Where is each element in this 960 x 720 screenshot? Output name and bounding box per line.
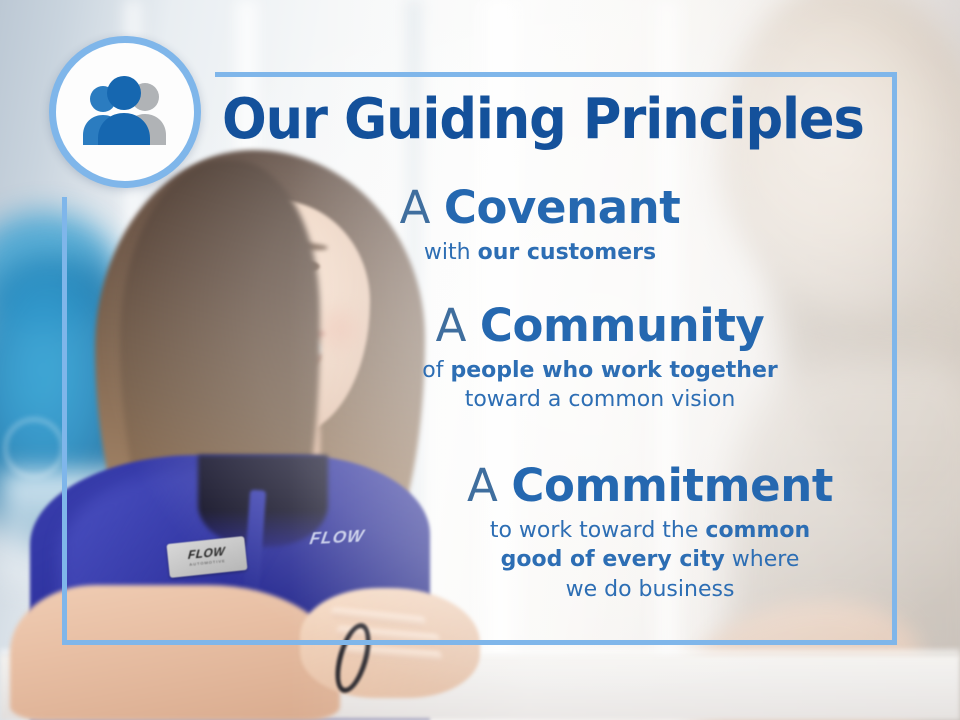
subtitle-segment: we do business	[566, 577, 735, 602]
principle-covenant: A Covenant with our customers	[330, 184, 750, 267]
principle-article: A	[436, 299, 466, 352]
page-title: Our Guiding Principles	[222, 92, 864, 148]
principle-subtitle: to work toward the common good of every …	[415, 516, 885, 604]
subtitle-line: good of every city where	[415, 545, 885, 574]
principle-keyword: Commitment	[511, 459, 833, 512]
subtitle-segment-bold: people who work together	[450, 358, 777, 383]
subtitle-segment-bold: good of every city	[501, 547, 725, 572]
people-group-icon-badge	[49, 36, 201, 188]
principle-headline: A Commitment	[415, 462, 885, 510]
principle-subtitle: of people who work together toward a com…	[380, 356, 820, 415]
subtitle-segment: toward a common vision	[465, 387, 736, 412]
subtitle-line: with our customers	[330, 238, 750, 267]
subtitle-line: toward a common vision	[380, 385, 820, 414]
people-group-icon	[73, 75, 177, 149]
banner-stage: FLOW FLOW AUTOMOTIVE	[0, 0, 960, 720]
principle-article: A	[400, 181, 430, 234]
principle-article: A	[467, 459, 497, 512]
principle-keyword: Community	[480, 299, 764, 352]
subtitle-segment-bold: common	[705, 518, 810, 543]
subtitle-segment-bold: our customers	[478, 240, 657, 265]
principle-headline: A Covenant	[330, 184, 750, 232]
subtitle-segment: with	[424, 240, 478, 265]
principle-subtitle: with our customers	[330, 238, 750, 267]
principle-commitment: A Commitment to work toward the common g…	[415, 462, 885, 604]
subtitle-segment: to work toward the	[490, 518, 706, 543]
principle-headline: A Community	[380, 302, 820, 350]
principle-keyword: Covenant	[444, 181, 681, 234]
subtitle-line: to work toward the common	[415, 516, 885, 545]
subtitle-segment: where	[725, 547, 800, 572]
principle-community: A Community of people who work together …	[380, 302, 820, 415]
subtitle-line: of people who work together	[380, 356, 820, 385]
subtitle-line: we do business	[415, 575, 885, 604]
subtitle-segment: of	[422, 358, 450, 383]
